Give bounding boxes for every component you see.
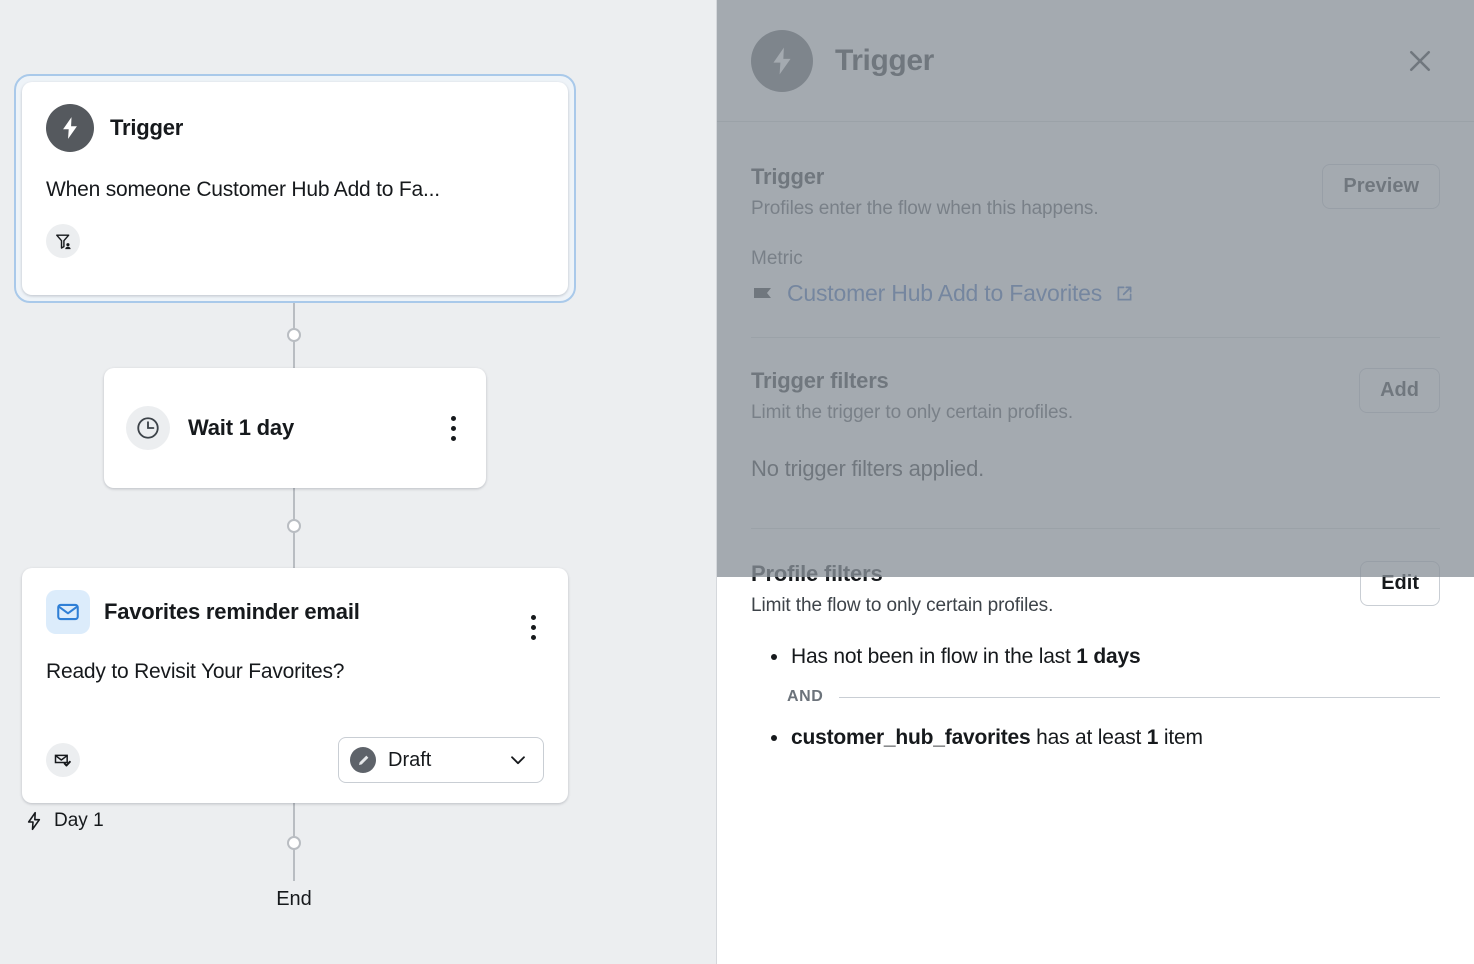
trigger-card-description: When someone Customer Hub Add to Fa... <box>46 178 544 202</box>
profile-filters-header: Profile filters Limit the flow to only c… <box>751 561 1440 617</box>
metric-name: Customer Hub Add to Favorites <box>787 280 1102 307</box>
connector-dot-3[interactable] <box>287 836 301 850</box>
email-card-header: Favorites reminder email <box>46 590 544 634</box>
lightning-bolt-icon <box>24 811 44 831</box>
flow-node-wait[interactable]: Wait 1 day <box>104 368 486 488</box>
list-item: customer_hub_favorites has at least 1 it… <box>751 724 1440 751</box>
preview-button[interactable]: Preview <box>1322 164 1440 209</box>
pencil-icon <box>350 747 376 773</box>
profile-filters-section: Profile filters Limit the flow to only c… <box>717 529 1474 752</box>
profile-filters-title: Profile filters <box>751 561 1053 587</box>
trigger-filters-subtitle: Limit the trigger to only certain profil… <box>751 402 1073 424</box>
metric-field-label: Metric <box>751 248 1440 270</box>
email-status-label: Draft <box>388 749 495 772</box>
flow-end-label: End <box>276 888 312 911</box>
edit-profile-filters-button[interactable]: Edit <box>1360 561 1440 606</box>
trigger-filters-section: Trigger filters Limit the trigger to onl… <box>717 338 1474 482</box>
filter-text-bold2: 1 <box>1147 726 1158 749</box>
trigger-filters-title: Trigger filters <box>751 368 1073 394</box>
profile-filters-list: Has not been in flow in the last 1 days … <box>751 643 1440 752</box>
trigger-section: Trigger Profiles enter the flow when thi… <box>717 122 1474 307</box>
filter-text-bold: 1 days <box>1076 645 1140 668</box>
envelope-check-icon[interactable] <box>46 743 80 777</box>
filter-text-bold: customer_hub_favorites <box>791 726 1031 749</box>
envelope-icon <box>46 590 90 634</box>
email-card-footer: Draft <box>46 737 544 783</box>
add-trigger-filter-button[interactable]: Add <box>1359 368 1440 413</box>
wait-card-title: Wait 1 day <box>188 415 294 441</box>
connector-dot-2[interactable] <box>287 519 301 533</box>
metric-link[interactable]: Customer Hub Add to Favorites <box>751 280 1440 307</box>
trigger-card[interactable]: Trigger When someone Customer Hub Add to… <box>22 82 568 295</box>
day-marker: Day 1 <box>24 810 104 832</box>
external-link-icon <box>1114 283 1135 304</box>
chevron-down-icon <box>507 749 529 771</box>
clock-icon <box>126 406 170 450</box>
day-marker-label: Day 1 <box>54 810 104 832</box>
trigger-card-header: Trigger <box>46 104 544 152</box>
filter-text-prefix: Has not been in flow in the last <box>791 645 1076 668</box>
lightning-bolt-icon <box>751 30 813 92</box>
trigger-section-title: Trigger <box>751 164 1099 190</box>
profile-filters-subtitle: Limit the flow to only certain profiles. <box>751 595 1053 617</box>
flow-canvas[interactable]: Trigger When someone Customer Hub Add to… <box>0 0 716 964</box>
trigger-detail-panel[interactable]: Trigger Trigger Profiles enter the flow … <box>716 0 1474 964</box>
filter-conjunction: AND <box>787 688 1440 706</box>
connector-dot-1[interactable] <box>287 328 301 342</box>
trigger-card-title: Trigger <box>110 115 183 141</box>
flow-node-trigger[interactable]: Trigger When someone Customer Hub Add to… <box>22 82 568 295</box>
email-card-subject: Ready to Revisit Your Favorites? <box>46 660 544 684</box>
email-card[interactable]: Favorites reminder email Ready to Revisi… <box>22 568 568 803</box>
panel-title: Trigger <box>835 44 934 78</box>
flow-builder-screen: Trigger When someone Customer Hub Add to… <box>0 0 1474 964</box>
trigger-filters-header: Trigger filters Limit the trigger to onl… <box>751 368 1440 424</box>
kebab-menu-icon[interactable] <box>520 612 546 642</box>
flag-icon <box>751 282 775 306</box>
panel-header: Trigger <box>717 0 1474 122</box>
trigger-section-subtitle: Profiles enter the flow when this happen… <box>751 198 1099 220</box>
lightning-bolt-icon <box>46 104 94 152</box>
filter-conjunction-line <box>839 697 1440 698</box>
kebab-menu-icon[interactable] <box>440 413 466 443</box>
trigger-filters-empty-state: No trigger filters applied. <box>751 456 1440 482</box>
list-item: Has not been in flow in the last 1 days <box>751 643 1440 670</box>
close-icon[interactable] <box>1400 41 1440 81</box>
email-status-dropdown[interactable]: Draft <box>338 737 544 783</box>
email-card-title: Favorites reminder email <box>104 599 360 625</box>
filter-person-icon[interactable] <box>46 224 80 258</box>
filter-text-suffix2: item <box>1158 726 1203 749</box>
trigger-section-header: Trigger Profiles enter the flow when thi… <box>751 164 1440 220</box>
flow-node-email[interactable]: Favorites reminder email Ready to Revisi… <box>22 568 568 803</box>
filter-text-suffix: has at least <box>1031 726 1147 749</box>
filter-conjunction-label: AND <box>787 688 823 706</box>
wait-card[interactable]: Wait 1 day <box>104 368 486 488</box>
